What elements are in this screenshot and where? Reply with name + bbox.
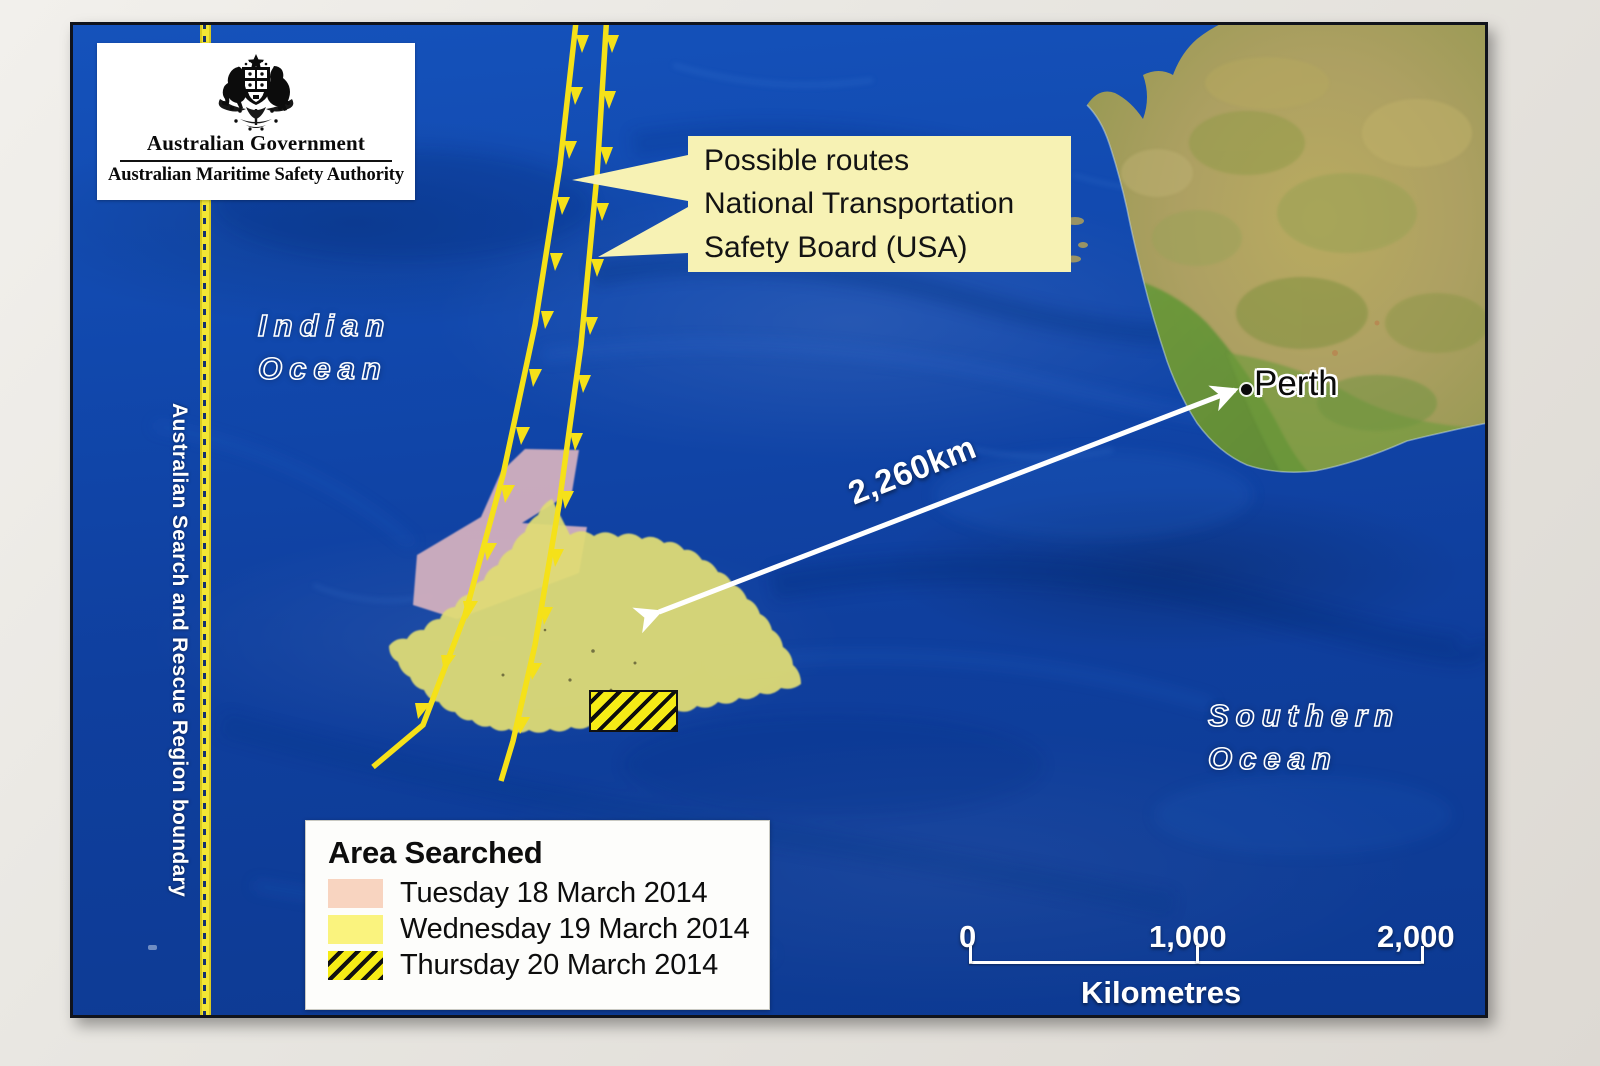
- amsa-logo-plate: Australian Government Australian Maritim…: [97, 43, 415, 200]
- search-area-map: Australian Search and Rescue Region boun…: [70, 22, 1488, 1018]
- legend-label-wednesday: Wednesday 19 March 2014: [400, 913, 750, 946]
- legend-label-tuesday: Tuesday 18 March 2014: [400, 877, 707, 910]
- legend-row-thursday: Thursday 20 March 2014: [328, 949, 769, 982]
- scale-caption: Kilometres: [1081, 975, 1241, 1011]
- legend-row-wednesday: Wednesday 19 March 2014: [328, 913, 769, 946]
- scale-tick-label-0: 0: [959, 919, 976, 955]
- logo-government-line: Australian Government: [147, 131, 365, 156]
- perth-marker-dot: [1241, 384, 1252, 395]
- scale-tick-label-2000: 2,000: [1377, 919, 1455, 955]
- legend-title: Area Searched: [328, 835, 769, 871]
- scale-tick-1000: [1196, 946, 1199, 963]
- photograph-backdrop: Australian Search and Rescue Region boun…: [0, 0, 1600, 1066]
- scale-tick-2000: [1421, 946, 1424, 963]
- scale-tick-label-1000: 1,000: [1149, 919, 1227, 955]
- legend-panel: Area Searched Tuesday 18 March 2014 Wedn…: [305, 820, 770, 1010]
- logo-agency-line: Australian Maritime Safety Authority: [108, 165, 404, 186]
- legend-swatch-thursday: [328, 951, 383, 980]
- perth-label: Perth: [1254, 364, 1338, 404]
- legend-row-tuesday: Tuesday 18 March 2014: [328, 877, 769, 910]
- scale-tick-0: [969, 946, 972, 963]
- logo-divider: [120, 160, 392, 162]
- commonwealth-coat-of-arms-icon: [190, 51, 322, 133]
- legend-swatch-wednesday: [328, 915, 383, 944]
- scale-bar: 0 1,000 2,000 Kilometres: [953, 905, 1443, 1018]
- legend-swatch-tuesday: [328, 879, 383, 908]
- legend-label-thursday: Thursday 20 March 2014: [400, 949, 718, 982]
